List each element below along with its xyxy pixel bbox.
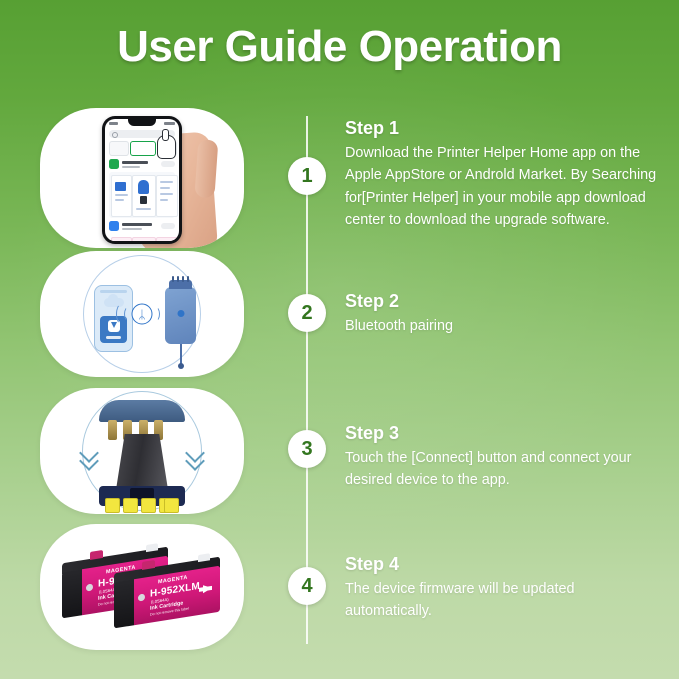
search-icon	[112, 132, 118, 138]
arrow-right-icon	[203, 584, 212, 593]
page-title: User Guide Operation	[0, 22, 679, 72]
step-illustration-card-4: MAGENTA H-952XLM (L0S64A) Ink Cartridge …	[40, 524, 244, 650]
step-illustration-card-2: ᛦ	[40, 251, 244, 377]
phone-notch-icon	[128, 119, 156, 126]
phone-screen	[105, 119, 179, 241]
bluetooth-pairing-illustration: ᛦ	[40, 251, 244, 377]
app-list-item[interactable]	[109, 159, 175, 169]
step-badge-2: 2	[288, 294, 326, 332]
step-text-2: Step 2 Bluetooth pairing	[345, 291, 657, 337]
resetter-cap	[99, 400, 185, 422]
step-title-2: Step 2	[345, 291, 657, 312]
step-title-1: Step 1	[345, 118, 657, 139]
filter-chip-1[interactable]	[109, 141, 129, 156]
step-body-4: The device firmware will be updated auto…	[345, 578, 657, 623]
cartridge-screenshot-strip	[109, 234, 175, 241]
step-body-1: Download the Printer Helper Home app on …	[345, 142, 657, 231]
chip-resetter-illustration	[40, 388, 244, 514]
step-title-3: Step 3	[345, 423, 657, 444]
timeline-connector	[306, 116, 308, 644]
step-badge-4: 4	[288, 567, 326, 605]
secondary-app-icon	[109, 221, 119, 231]
app-get-button[interactable]	[161, 161, 175, 167]
printer-helper-app-icon	[109, 159, 119, 169]
filter-chip-selected[interactable]	[130, 141, 156, 156]
step-text-1: Step 1 Download the Printer Helper Home …	[345, 118, 657, 231]
ink-cartridges-illustration: MAGENTA H-952XLM (L0S64A) Ink Cartridge …	[40, 524, 244, 650]
resetter-base	[99, 486, 185, 506]
app-result-list	[109, 159, 175, 238]
bluetooth-icon: ᛦ	[132, 304, 153, 325]
step-body-3: Touch the [Connect] button and connect y…	[345, 447, 657, 492]
step-text-4: Step 4 The device firmware will be updat…	[345, 554, 657, 623]
step-title-4: Step 4	[345, 554, 657, 575]
step-body-2: Bluetooth pairing	[345, 315, 657, 337]
contact-pad	[164, 498, 179, 513]
app-screenshot-strip	[109, 172, 175, 218]
step-illustration-card-1	[40, 108, 244, 248]
resetter-prong	[108, 420, 117, 440]
cartridge-port-icon	[86, 583, 93, 591]
step-badge-3: 3	[288, 430, 326, 468]
step-illustration-card-3	[40, 388, 244, 514]
hand-holding-phone-illustration	[40, 108, 244, 248]
contact-pad	[141, 498, 156, 513]
tap-hand-cursor-icon	[157, 135, 176, 159]
smartphone-icon	[102, 116, 182, 244]
cartridge-port-icon	[138, 593, 145, 601]
app-get-button[interactable]	[161, 223, 175, 229]
app-list-item[interactable]	[109, 221, 175, 231]
contact-pad	[123, 498, 138, 513]
contact-pad	[105, 498, 120, 513]
step-badge-1: 1	[288, 157, 326, 195]
step-text-3: Step 3 Touch the [Connect] button and co…	[345, 423, 657, 492]
ink-cartridge: MAGENTA H-952XLM (L0S64A) Ink Cartridge …	[114, 566, 220, 629]
bluetooth-dongle-icon	[165, 287, 196, 344]
